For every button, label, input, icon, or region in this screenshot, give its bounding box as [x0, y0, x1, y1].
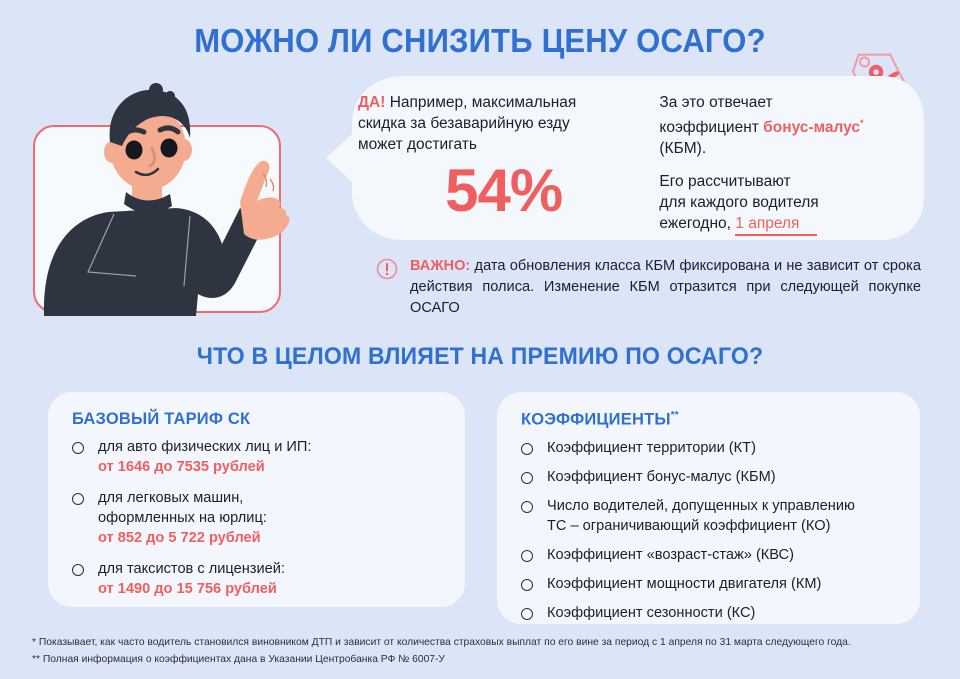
kbm-line-2-prefix: коэффициент: [659, 119, 763, 136]
bubble-line-2: скидка за безаварийную езду: [358, 113, 649, 134]
exclamation-circle-icon: [376, 258, 398, 280]
infographic-root: МОЖНО ЛИ СНИЗИТЬ ЦЕНУ ОСАГО?: [0, 0, 960, 679]
kbm-calc-line-2: для каждого водителя: [659, 192, 910, 213]
coefficients-footnote-marker: **: [671, 410, 679, 421]
card-coefficients: КОЭФФИЦИЕНТЫ** Коэффициент территории (К…: [497, 392, 920, 624]
bonus-malus-highlight: бонус-малус: [763, 119, 860, 136]
item-text: Коэффициент мощности двигателя (КМ): [547, 576, 821, 592]
bubble-left-column: ДА! Например, максимальная скидка за без…: [358, 92, 649, 234]
april-first-highlight: 1 апреля: [735, 215, 817, 236]
item-text: для таксистов с лицензией:: [98, 561, 285, 577]
list-item: Коэффициент сезонности (КС): [519, 603, 904, 623]
kbm-line-1: За это отвечает: [659, 92, 910, 113]
bubble-right-column: За это отвечает коэффициент бонус-малус*…: [649, 92, 910, 234]
item-text: Коэффициент бонус-малус (КБМ): [547, 469, 776, 485]
list-item: Число водителей, допущенных к управлению…: [519, 496, 904, 536]
bonus-malus-footnote-marker: *: [860, 118, 864, 128]
item-amount: от 852 до 5 722 рублей: [98, 528, 449, 548]
item-text: для легковых машин,: [98, 490, 243, 506]
item-amount: от 1490 до 15 756 рублей: [98, 579, 449, 599]
pointing-man-illustration: [26, 76, 326, 331]
important-notice: ВАЖНО: дата обновления класса КБМ фиксир…: [376, 256, 921, 319]
footnote-2: ** Полная информация о коэффициентах дан…: [32, 651, 914, 668]
base-tariff-list: для авто физических лиц и ИП: от 1646 до…: [70, 437, 449, 599]
kbm-calc-line-3-prefix: ежегодно,: [659, 215, 735, 232]
list-item: для авто физических лиц и ИП: от 1646 до…: [70, 437, 449, 477]
list-item: Коэффициент территории (КТ): [519, 438, 904, 458]
coefficients-list: Коэффициент территории (КТ) Коэффициент …: [519, 438, 904, 623]
page-title: МОЖНО ЛИ СНИЗИТЬ ЦЕНУ ОСАГО?: [29, 22, 931, 60]
item-text: Коэффициент «возраст-стаж» (КВС): [547, 547, 794, 563]
kbm-calc-line-1: Его рассчитывают: [659, 171, 910, 192]
list-item: Коэффициент «возраст-стаж» (КВС): [519, 545, 904, 565]
important-text: дата обновления класса КБМ фиксирована и…: [410, 258, 921, 316]
item-text: Число водителей, допущенных к управлению: [547, 498, 855, 514]
item-text-2: оформленных на юрлиц:: [98, 510, 267, 526]
bubble-line-1: Например, максимальная: [385, 94, 576, 111]
footnotes: * Показывает, как часто водитель станови…: [32, 634, 932, 668]
item-text: Коэффициент территории (КТ): [547, 440, 756, 456]
bubble-line-3: может достигать: [358, 134, 649, 155]
list-item: Коэффициент мощности двигателя (КМ): [519, 574, 904, 594]
card-base-tariff-title: БАЗОВЫЙ ТАРИФ СК: [72, 410, 465, 429]
item-text: Коэффициент сезонности (КС): [547, 605, 755, 621]
important-label: ВАЖНО:: [410, 258, 470, 274]
list-item: для легковых машин, оформленных на юрлиц…: [70, 488, 449, 548]
list-item: Коэффициент бонус-малус (КБМ): [519, 467, 904, 487]
speech-bubble: ДА! Например, максимальная скидка за без…: [316, 72, 928, 244]
card-base-tariff: БАЗОВЫЙ ТАРИФ СК для авто физических лиц…: [48, 392, 465, 607]
card-coefficients-title: КОЭФФИЦИЕНТЫ: [521, 411, 671, 429]
kbm-line-3: (КБМ).: [659, 138, 910, 159]
footnote-1: * Показывает, как часто водитель станови…: [32, 634, 914, 651]
max-discount-value: 54%: [358, 155, 649, 223]
item-amount: от 1646 до 7535 рублей: [98, 457, 449, 477]
list-item: для таксистов с лицензией: от 1490 до 15…: [70, 559, 449, 599]
item-text-2: ТС – ограничивающий коэффициент (КО): [547, 518, 830, 534]
item-text: для авто физических лиц и ИП:: [98, 439, 311, 455]
section-title-factors: ЧТО В ЦЕЛОМ ВЛИЯЕТ НА ПРЕМИЮ ПО ОСАГО?: [19, 343, 941, 371]
bubble-yes-label: ДА!: [358, 94, 385, 111]
